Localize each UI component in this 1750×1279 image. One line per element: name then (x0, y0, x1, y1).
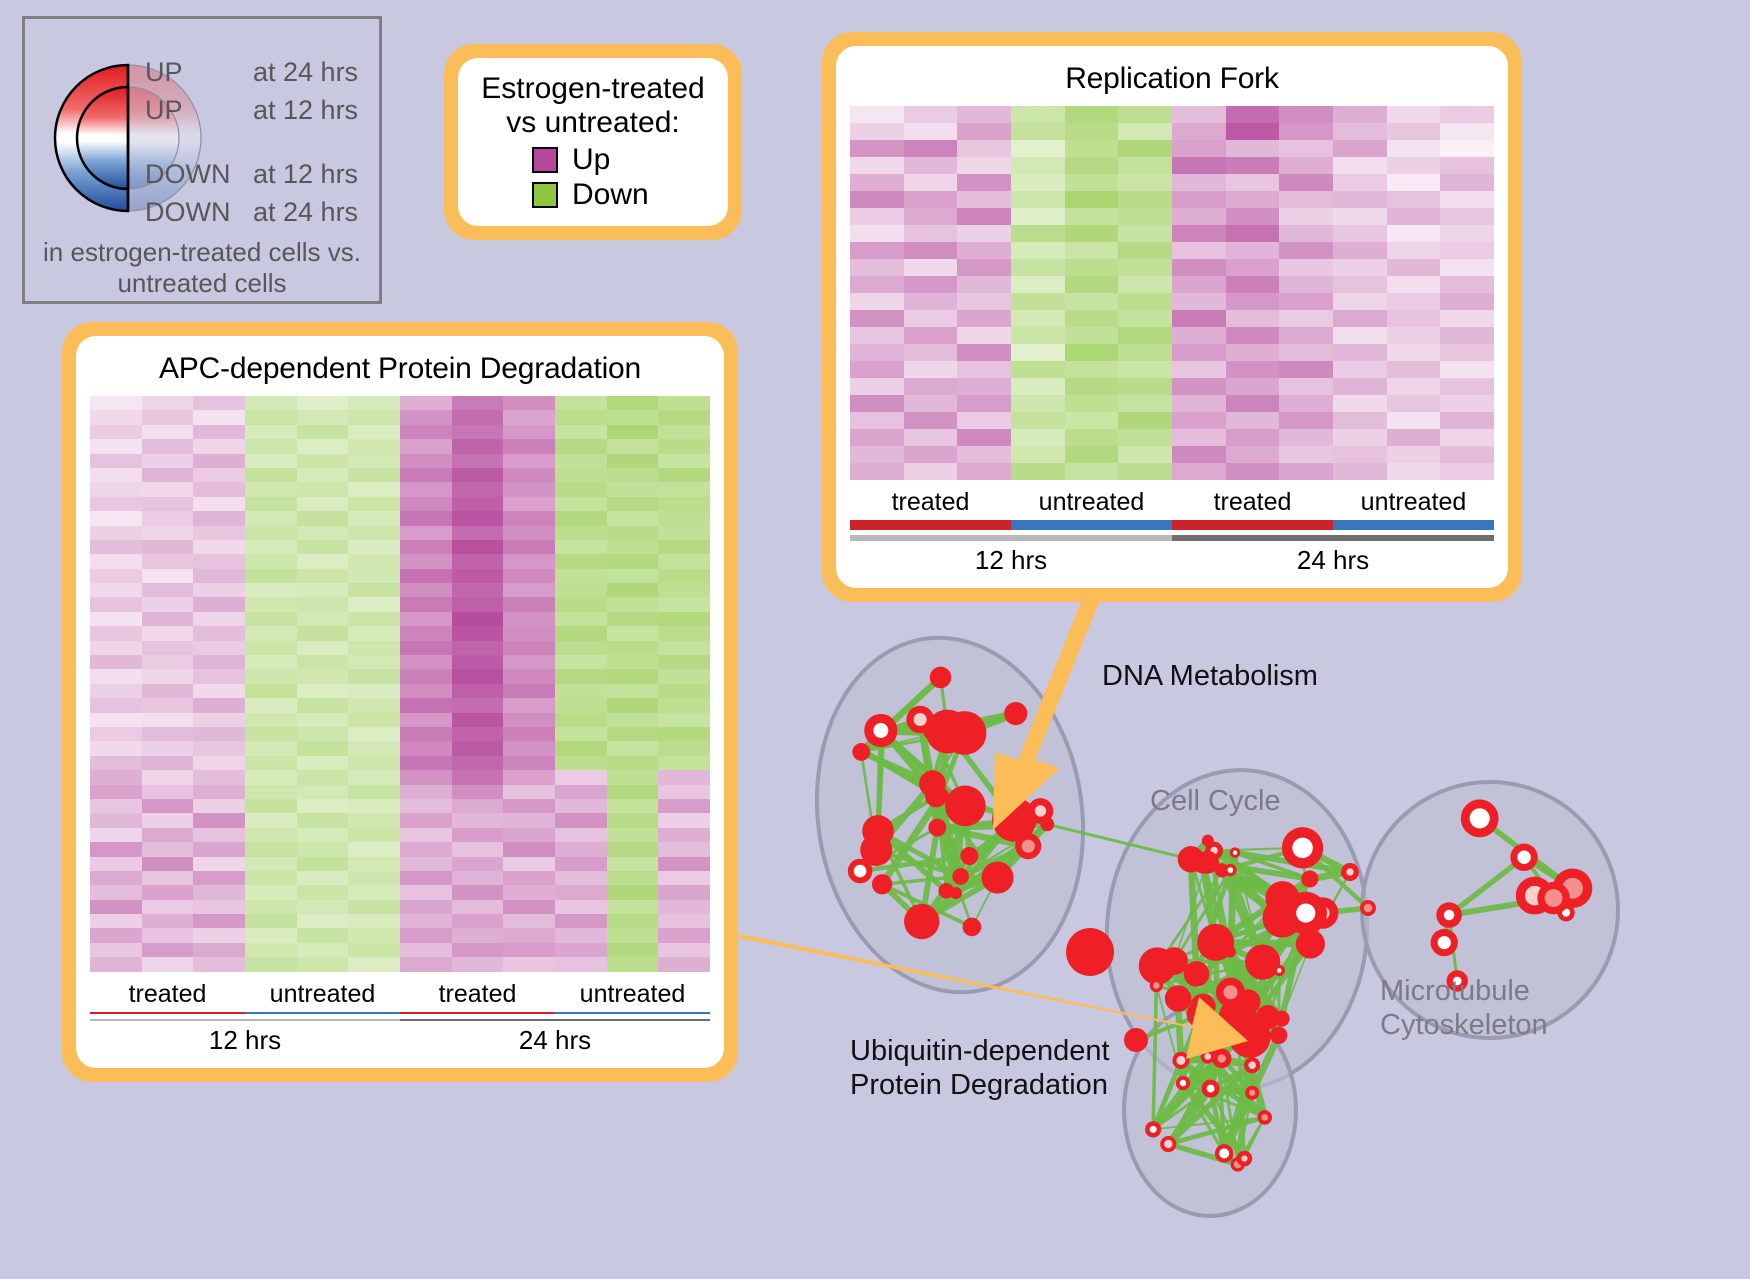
heatmap-cell (1172, 174, 1226, 191)
heatmap-cell (555, 684, 607, 698)
heatmap-cell (297, 468, 349, 482)
heatmap-cell (607, 511, 659, 525)
heatmap-cell (348, 425, 400, 439)
color-key-time: at 24 hrs (253, 57, 358, 88)
heatmap-cell (658, 828, 710, 842)
heatmap-cell (1065, 191, 1119, 208)
heatmap-cell (400, 554, 452, 568)
heatmap-cell (1118, 361, 1172, 378)
heatmap-cell (607, 842, 659, 856)
heatmap-cell (1440, 123, 1494, 140)
network-svg (790, 600, 1750, 1279)
heatmap-cell (1172, 395, 1226, 412)
color-key-rows: UP at 24 hrs UP at 12 hrs DOWN at 12 hrs… (145, 53, 383, 231)
heatmap-cell (90, 583, 142, 597)
heatmap-cell (400, 583, 452, 597)
heatmap-cell (90, 396, 142, 410)
heatmap-cell (400, 454, 452, 468)
heatmap-cell (193, 741, 245, 755)
heatmap-cell (400, 669, 452, 683)
network-node (1004, 702, 1027, 725)
heatmap-cell (1118, 395, 1172, 412)
heatmap-cell (850, 259, 904, 276)
heatmap-cell (245, 626, 297, 640)
heatmap-cell (1440, 225, 1494, 242)
heatmap-cell (1333, 293, 1387, 310)
heatmap-cell (142, 410, 194, 424)
heatmap-cell (607, 741, 659, 755)
heatmap-cell (1440, 429, 1494, 446)
network-node-core (873, 723, 888, 738)
heatmap-cell (1118, 293, 1172, 310)
heatmap-cell (1440, 463, 1494, 480)
heatmap-cell (193, 569, 245, 583)
network-node-core (1249, 1090, 1255, 1096)
legend-label-up: Up (572, 143, 610, 178)
network-node (960, 847, 978, 865)
network-node (1066, 928, 1114, 976)
heatmap-cell (1440, 157, 1494, 174)
heatmap-cell (348, 828, 400, 842)
heatmap-cell (503, 871, 555, 885)
heatmap-cell (555, 583, 607, 597)
heatmap-cell (452, 914, 504, 928)
heatmap-cell (555, 885, 607, 899)
heatmap-cell (245, 454, 297, 468)
heatmap-cell (1065, 140, 1119, 157)
heatmap-cell (90, 857, 142, 871)
heatmap-cell (400, 785, 452, 799)
group-bar-untreated-12 (1011, 520, 1172, 530)
heatmap-cell (1011, 225, 1065, 242)
network-node-core (1470, 808, 1490, 828)
heatmap-cell (1011, 361, 1065, 378)
heatmap-cell (245, 655, 297, 669)
heatmap-cell (1333, 106, 1387, 123)
heatmap-cell (245, 540, 297, 554)
heatmap-cell (400, 597, 452, 611)
heatmap-cell (1172, 157, 1226, 174)
heatmap-cell (193, 583, 245, 597)
group-bar-treated-24 (1172, 520, 1333, 530)
heatmap-cell (400, 813, 452, 827)
heatmap-cell (400, 396, 452, 410)
heatmap-cell (1440, 174, 1494, 191)
heatmap-cell (850, 174, 904, 191)
heatmap-cell (503, 828, 555, 842)
heatmap-cell (297, 583, 349, 597)
heatmap-cell (1065, 293, 1119, 310)
heatmap-cell (1172, 140, 1226, 157)
heatmap-cell (348, 741, 400, 755)
heatmap-cell (245, 583, 297, 597)
heatmap-cell (1172, 259, 1226, 276)
heatmap-cell (400, 612, 452, 626)
heatmap-cell (1172, 412, 1226, 429)
heatmap-cell (1065, 174, 1119, 191)
time-bar-24 (1172, 535, 1494, 541)
heatmap-cell (142, 468, 194, 482)
heatmap-cell (142, 425, 194, 439)
heatmap-cell (400, 828, 452, 842)
heatmap-cell (1172, 225, 1226, 242)
heatmap-cell (1387, 225, 1441, 242)
heatmap-cell (658, 569, 710, 583)
heatmap-cell (400, 770, 452, 784)
heatmap-cell (297, 569, 349, 583)
heatmap-cell (607, 425, 659, 439)
legend-item-down: Down (532, 178, 718, 213)
heatmap-cell (90, 612, 142, 626)
heatmap-cell (555, 540, 607, 554)
heatmap-cell (607, 857, 659, 871)
heatmap-cell (90, 885, 142, 899)
heatmap-cell (658, 684, 710, 698)
heatmap-cell (1226, 140, 1280, 157)
heatmap-cell (607, 943, 659, 957)
heatmap-cell (348, 597, 400, 611)
heatmap-cell (400, 857, 452, 871)
heatmap-cell (658, 540, 710, 554)
heatmap-cell (1333, 412, 1387, 429)
heatmap-cell (193, 713, 245, 727)
heatmap-cell (1279, 344, 1333, 361)
heatmap-cell (607, 799, 659, 813)
network-node (1296, 929, 1325, 958)
heatmap-cell (142, 727, 194, 741)
heatmap-cell (850, 293, 904, 310)
heatmap-cell (245, 813, 297, 827)
heatmap-cell (90, 626, 142, 640)
heatmap-cell (348, 669, 400, 683)
heatmap-cell (348, 900, 400, 914)
heatmap-cell (90, 842, 142, 856)
heatmap-cell (1226, 412, 1280, 429)
heatmap-cell (555, 526, 607, 540)
heatmap-cell (1440, 242, 1494, 259)
heatmap-cell (658, 454, 710, 468)
heatmap-cell (555, 612, 607, 626)
heatmap-cell (245, 828, 297, 842)
heatmap-cell (348, 569, 400, 583)
heatmap-cell (1440, 344, 1494, 361)
heatmap-cell (1226, 293, 1280, 310)
heatmap-cell (193, 957, 245, 971)
heatmap-cell (1011, 378, 1065, 395)
heatmap-cell (193, 828, 245, 842)
heatmap-cell (348, 885, 400, 899)
heatmap-cell (90, 799, 142, 813)
heatmap-cell (348, 583, 400, 597)
heatmap-cell (1011, 174, 1065, 191)
heatmap-cell (452, 741, 504, 755)
heatmap-cell (1065, 395, 1119, 412)
heatmap-cell (957, 361, 1011, 378)
heatmap-cell (245, 554, 297, 568)
heatmap-cell (245, 497, 297, 511)
heatmap-cell (1279, 276, 1333, 293)
heatmap-cell (658, 526, 710, 540)
heatmap-cell (957, 174, 1011, 191)
heatmap-cell (957, 225, 1011, 242)
heatmap-cell (904, 378, 958, 395)
heatmap-cell (904, 208, 958, 225)
heatmap-cell (1172, 310, 1226, 327)
heatmap-cell (90, 813, 142, 827)
heatmap-cell (1440, 378, 1494, 395)
heatmap-cell (245, 928, 297, 942)
heatmap-cell (1279, 395, 1333, 412)
network-node (930, 667, 952, 689)
heatmap-cell (503, 482, 555, 496)
heatmap-cell (850, 123, 904, 140)
panel-title: APC-dependent Protein Degradation (90, 352, 710, 386)
heatmap-cell (297, 454, 349, 468)
heatmap-cell (142, 540, 194, 554)
heatmap-cell (90, 425, 142, 439)
heatmap-cell (850, 378, 904, 395)
heatmap-cell (142, 928, 194, 942)
heatmap-cell (850, 140, 904, 157)
heatmap-cell (555, 928, 607, 942)
heatmap-cell (297, 612, 349, 626)
heatmap-cell (452, 669, 504, 683)
heatmap-cell (503, 554, 555, 568)
heatmap-cell (348, 655, 400, 669)
network-node (1202, 835, 1214, 847)
heatmap-cell (1440, 310, 1494, 327)
heatmap-cell (193, 497, 245, 511)
group-label: treated (850, 488, 1011, 517)
heatmap-cell (400, 957, 452, 971)
legend-title: Estrogen-treated vs untreated: (468, 72, 718, 139)
heatmap-cell (1065, 225, 1119, 242)
heatmap-cell (297, 684, 349, 698)
heatmap-cell (90, 828, 142, 842)
heatmap-cell (348, 684, 400, 698)
heatmap-cell (245, 914, 297, 928)
heatmap-cell (1387, 344, 1441, 361)
heatmap-cell (1172, 276, 1226, 293)
heatmap-cell (90, 468, 142, 482)
heatmap-cell (555, 641, 607, 655)
heatmap-cell (503, 885, 555, 899)
heatmap-cell (1440, 395, 1494, 412)
heatmap-cell (555, 497, 607, 511)
heatmap-cell (658, 770, 710, 784)
heatmap-cell (1172, 208, 1226, 225)
heatmap-cell (658, 410, 710, 424)
heatmap-cell (555, 828, 607, 842)
heatmap-cell (452, 511, 504, 525)
heatmap-cell (555, 396, 607, 410)
heatmap-cell (658, 511, 710, 525)
heatmap-cell (297, 770, 349, 784)
heatmap-cell (555, 410, 607, 424)
heatmap-cell (452, 410, 504, 424)
heatmap-cell (1118, 412, 1172, 429)
heatmap-cell (90, 741, 142, 755)
heatmap-cell (658, 425, 710, 439)
heatmap-cell (1226, 344, 1280, 361)
heatmap-cell (193, 669, 245, 683)
network-node-core (1296, 903, 1315, 922)
heatmap-cell (904, 446, 958, 463)
heatmap-cell (1226, 123, 1280, 140)
heatmap-cell (297, 626, 349, 640)
heatmap-cell (1118, 123, 1172, 140)
heatmap-cell (452, 785, 504, 799)
heatmap-cell (1279, 327, 1333, 344)
heatmap-cell (297, 785, 349, 799)
network-node-core (1438, 936, 1451, 949)
heatmap-cell (193, 468, 245, 482)
heatmap-cell (245, 526, 297, 540)
heatmap-cell (142, 612, 194, 626)
heatmap-cell (142, 482, 194, 496)
network-node-core (1241, 1155, 1247, 1161)
heatmap-cell (503, 813, 555, 827)
heatmap-cell (503, 439, 555, 453)
heatmap-cell (1440, 208, 1494, 225)
heatmap-cell (90, 785, 142, 799)
heatmap-cell (1387, 191, 1441, 208)
heatmap-cell (1226, 429, 1280, 446)
heatmap-cell (193, 425, 245, 439)
heatmap-cell (1387, 463, 1441, 480)
heatmap-cell (245, 569, 297, 583)
heatmap-cell (1011, 395, 1065, 412)
heatmap-cell (503, 727, 555, 741)
heatmap-cell (1226, 174, 1280, 191)
heatmap-cell (297, 698, 349, 712)
heatmap-cell (193, 914, 245, 928)
heatmap-cell (142, 713, 194, 727)
network-node (1160, 947, 1188, 975)
heatmap-cell (452, 770, 504, 784)
heatmap-cell (957, 327, 1011, 344)
heatmap-cell (297, 396, 349, 410)
heatmap-cell (245, 943, 297, 957)
heatmap-cell (193, 684, 245, 698)
heatmap-cell (245, 641, 297, 655)
heatmap-cell (90, 439, 142, 453)
network-node-core (1346, 868, 1353, 875)
heatmap-cell (658, 914, 710, 928)
heatmap-cell (1333, 446, 1387, 463)
heatmap-cell (142, 526, 194, 540)
heatmap-replication-fork (850, 106, 1494, 480)
heatmap-cell (297, 799, 349, 813)
heatmap-cell (1118, 327, 1172, 344)
network-node (919, 770, 946, 797)
heatmap-cell (297, 597, 349, 611)
heatmap-cell (142, 626, 194, 640)
heatmap-cell (1172, 344, 1226, 361)
group-bar-untreated-24 (555, 1012, 710, 1015)
heatmap-cell (503, 597, 555, 611)
heatmap-cell (142, 396, 194, 410)
heatmap-cell (555, 799, 607, 813)
heatmap-cell (1440, 412, 1494, 429)
heatmap-cell (607, 871, 659, 885)
heatmap-cell (193, 526, 245, 540)
heatmap-cell (607, 928, 659, 942)
heatmap-cell (1226, 242, 1280, 259)
heatmap-cell (400, 497, 452, 511)
heatmap-cell (1011, 259, 1065, 276)
heatmap-cell (142, 511, 194, 525)
heatmap-cell (452, 813, 504, 827)
heatmap-cell (904, 174, 958, 191)
heatmap-cell (503, 943, 555, 957)
heatmap-cell (1226, 327, 1280, 344)
heatmap-cell (503, 454, 555, 468)
heatmap-cell (1011, 429, 1065, 446)
network-node (1265, 881, 1299, 915)
heatmap-cell (400, 569, 452, 583)
heatmap-cell (400, 727, 452, 741)
heatmap-cell (555, 842, 607, 856)
heatmap-cell (452, 526, 504, 540)
heatmap-cell (555, 713, 607, 727)
network-node (1178, 846, 1205, 873)
heatmap-cell (142, 669, 194, 683)
heatmap-cell (1226, 395, 1280, 412)
heatmap-cell (1065, 344, 1119, 361)
heatmap-cell (1226, 157, 1280, 174)
heatmap-cell (503, 756, 555, 770)
heatmap-cell (90, 770, 142, 784)
heatmap-cell (245, 885, 297, 899)
color-key-time: at 12 hrs (253, 159, 358, 190)
heatmap-cell (193, 698, 245, 712)
heatmap-cell (193, 626, 245, 640)
time-bar-12 (90, 1019, 400, 1021)
heatmap-cell (452, 828, 504, 842)
group-color-bar (90, 1012, 710, 1015)
color-key-time: at 12 hrs (253, 95, 358, 126)
heatmap-cell (555, 554, 607, 568)
heatmap-cell (297, 526, 349, 540)
heatmap-cell (142, 554, 194, 568)
heatmap-cell (1118, 378, 1172, 395)
heatmap-cell (193, 943, 245, 957)
heatmap-cell (1172, 463, 1226, 480)
heatmap-cell (452, 842, 504, 856)
network-node-core (1517, 851, 1531, 865)
heatmap-cell (607, 655, 659, 669)
heatmap-cell (193, 396, 245, 410)
heatmap-cell (1279, 259, 1333, 276)
heatmap-cell (1065, 378, 1119, 395)
heatmap-cell (1226, 361, 1280, 378)
heatmap-cell (400, 684, 452, 698)
heatmap-cell (658, 698, 710, 712)
heatmap-cell (1011, 157, 1065, 174)
heatmap-cell (503, 583, 555, 597)
heatmap-cell (297, 439, 349, 453)
heatmap-cell (1387, 140, 1441, 157)
heatmap-cell (1226, 191, 1280, 208)
heatmap-cell (607, 554, 659, 568)
heatmap-cell (142, 741, 194, 755)
heatmap-cell (245, 785, 297, 799)
heatmap-cell (850, 361, 904, 378)
heatmap-cell (904, 276, 958, 293)
heatmap-cell (348, 554, 400, 568)
heatmap-cell (1011, 344, 1065, 361)
